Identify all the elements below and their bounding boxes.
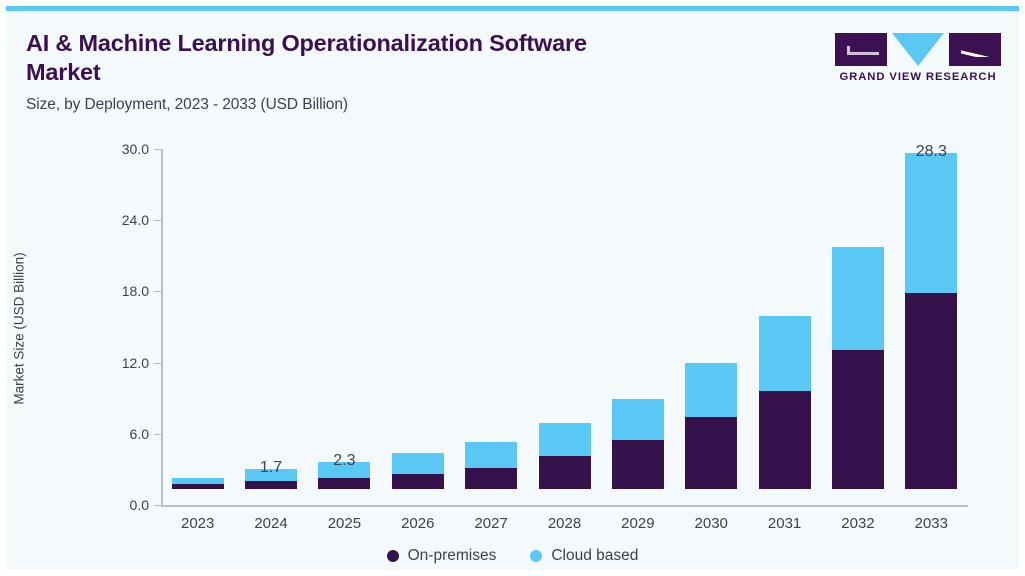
bar-segment-on-premises[interactable]	[392, 474, 444, 489]
chart-legend: On-premisesCloud based	[6, 547, 1019, 565]
legend-color-dot-icon	[387, 550, 399, 562]
legend-item[interactable]: Cloud based	[530, 547, 638, 565]
x-axis-tick-label: 2025	[304, 515, 384, 532]
bar-segment-cloud-based[interactable]	[685, 363, 737, 416]
legend-color-dot-icon	[530, 550, 542, 562]
bar-stack[interactable]	[539, 423, 591, 489]
bar-segment-cloud-based[interactable]	[465, 442, 517, 468]
y-axis-title: Market Size (USD Billion)	[12, 194, 27, 464]
bar-segment-on-premises[interactable]	[539, 456, 591, 489]
bar-segment-on-premises[interactable]	[612, 440, 664, 489]
bar-segment-cloud-based[interactable]	[759, 316, 811, 391]
bar-segment-on-premises[interactable]	[905, 293, 957, 489]
chart-plot-area: Market Size (USD Billion) 0.06.012.018.0…	[6, 11, 1019, 570]
bar-stack[interactable]	[172, 478, 224, 489]
x-axis-tick-label: 2026	[378, 515, 458, 532]
bar-value-label: 2.3	[304, 452, 384, 470]
bar-stack[interactable]	[465, 442, 517, 489]
bar-segment-on-premises[interactable]	[172, 484, 224, 489]
bar-segment-on-premises[interactable]	[245, 481, 297, 489]
bar-segment-on-premises[interactable]	[465, 468, 517, 489]
x-axis-tick-label: 2029	[598, 515, 678, 532]
x-axis-tick-label: 2027	[451, 515, 531, 532]
y-axis-tick-mark	[154, 363, 161, 364]
x-axis-tick-label: 2033	[891, 515, 971, 532]
bar-value-label: 1.7	[231, 459, 311, 477]
y-axis-tick-mark	[154, 505, 161, 506]
bar-segment-cloud-based[interactable]	[832, 247, 884, 350]
bar-stack[interactable]	[685, 363, 737, 489]
y-axis-tick-label: 0.0	[101, 497, 149, 513]
legend-label: On-premises	[408, 547, 497, 565]
chart-card: AI & Machine Learning Operationalization…	[6, 6, 1019, 570]
y-axis-tick-label: 12.0	[101, 355, 149, 371]
legend-item[interactable]: On-premises	[387, 547, 497, 565]
bar-segment-cloud-based[interactable]	[392, 453, 444, 473]
x-axis-tick-label: 2030	[671, 515, 751, 532]
y-axis-tick-mark	[154, 291, 161, 292]
x-axis-tick-label: 2023	[158, 515, 238, 532]
x-axis-line	[161, 505, 968, 507]
y-axis-tick-label: 6.0	[101, 426, 149, 442]
y-axis-tick-label: 30.0	[101, 141, 149, 157]
y-axis-tick-mark	[154, 220, 161, 221]
x-axis-tick-label: 2032	[818, 515, 898, 532]
x-axis-tick-label: 2028	[525, 515, 605, 532]
bar-segment-cloud-based[interactable]	[539, 423, 591, 456]
bar-segment-on-premises[interactable]	[759, 391, 811, 489]
legend-label: Cloud based	[551, 547, 638, 565]
bar-stack[interactable]	[759, 316, 811, 489]
y-axis-tick-mark	[154, 149, 161, 150]
x-axis-tick-label: 2031	[745, 515, 825, 532]
bar-segment-on-premises[interactable]	[318, 478, 370, 489]
bar-value-label: 28.3	[891, 143, 971, 161]
x-axis-tick-label: 2024	[231, 515, 311, 532]
y-axis-line	[161, 149, 163, 506]
y-axis-tick-mark	[154, 434, 161, 435]
bar-segment-cloud-based[interactable]	[905, 153, 957, 293]
bar-stack[interactable]	[612, 399, 664, 489]
bar-stack[interactable]	[392, 453, 444, 489]
bar-stack[interactable]	[832, 247, 884, 489]
y-axis-tick-label: 24.0	[101, 212, 149, 228]
bar-segment-cloud-based[interactable]	[612, 399, 664, 441]
bar-stack[interactable]	[905, 153, 957, 489]
bar-segment-on-premises[interactable]	[832, 350, 884, 489]
bar-segment-on-premises[interactable]	[685, 417, 737, 489]
y-axis-tick-label: 18.0	[101, 283, 149, 299]
